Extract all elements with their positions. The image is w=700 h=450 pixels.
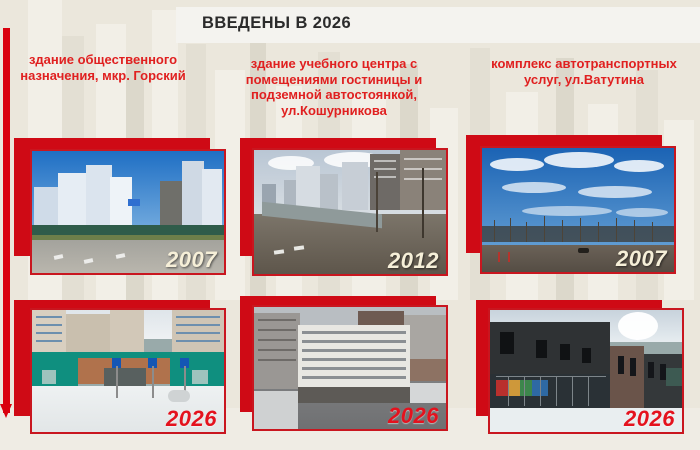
photo-year-label: 2026: [166, 408, 217, 430]
photo-image: 2026: [254, 307, 446, 429]
page-title: ВВЕДЕНЫ В 2026: [202, 14, 351, 33]
column-caption-0: здание общественного назначения, мкр. Го…: [8, 52, 198, 83]
photo-year-label: 2007: [166, 249, 217, 271]
photo-frame: 2026: [252, 305, 448, 431]
photo-image: 2007: [482, 148, 674, 272]
red-rail-arrow-icon: [0, 404, 12, 418]
column-caption-2: комплекс автотранспортных услуг, ул.Вату…: [478, 56, 690, 87]
photo-frame: 2012: [252, 148, 448, 276]
photo-frame: 2026: [488, 308, 684, 434]
photo-image: 2026: [32, 310, 224, 432]
column-caption-1: здание учебного центра с помещениями гос…: [214, 56, 454, 118]
photo-image: 2007: [32, 151, 224, 273]
slide-canvas: ВВЕДЕНЫ В 2026 здание общественного назн…: [0, 0, 700, 450]
photo-year-label: 2007: [616, 248, 667, 270]
photo-image: 2026: [490, 310, 682, 432]
photo-image: 2012: [254, 150, 446, 274]
photo-year-label: 2026: [624, 408, 675, 430]
photo-year-label: 2026: [388, 405, 439, 427]
red-rail-line: [3, 28, 10, 413]
photo-frame: 2007: [480, 146, 676, 274]
photo-year-label: 2012: [388, 250, 439, 272]
photo-frame: 2026: [30, 308, 226, 434]
photo-frame: 2007: [30, 149, 226, 275]
